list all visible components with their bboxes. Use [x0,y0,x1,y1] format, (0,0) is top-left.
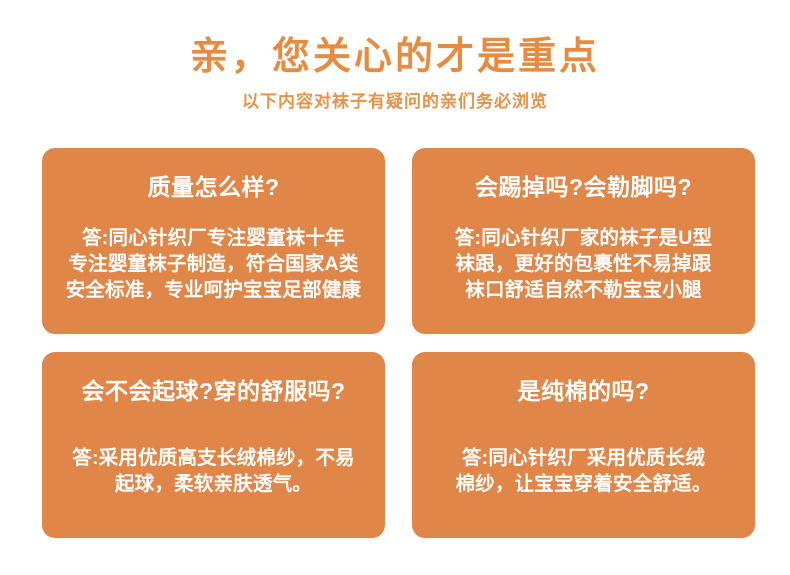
faq-question: 会不会起球?穿的舒服吗? [81,377,345,405]
faq-answer: 答:同心针织厂专注婴童袜十年 专注婴童袜子制造，符合国家A类 安全标准，专业呵护… [66,225,362,303]
page-title: 亲，您关心的才是重点 [0,34,790,80]
faq-card-pilling: 会不会起球?穿的舒服吗? 答:采用优质高支长绒棉纱，不易 起球，柔软亲肤透气。 [42,352,385,538]
faq-answer: 答:同心针织厂家的袜子是U型 袜跟，更好的包裹性不易掉跟 袜口舒适自然不勒宝宝小… [455,225,712,303]
faq-card-cotton: 是纯棉的吗? 答:同心针织厂采用优质长绒 棉纱，让宝宝穿着安全舒适。 [412,352,755,538]
faq-card-grid: 质量怎么样? 答:同心针织厂专注婴童袜十年 专注婴童袜子制造，符合国家A类 安全… [42,148,756,538]
faq-answer: 答:采用优质高支长绒棉纱，不易 起球，柔软亲肤透气。 [72,445,355,497]
faq-question: 是纯棉的吗? [517,377,649,405]
page-header: 亲，您关心的才是重点 以下内容对袜子有疑问的亲们务必浏览 [0,0,790,114]
faq-question: 会踢掉吗?会勒脚吗? [475,173,692,201]
faq-question: 质量怎么样? [147,173,279,201]
faq-card-fit: 会踢掉吗?会勒脚吗? 答:同心针织厂家的袜子是U型 袜跟，更好的包裹性不易掉跟 … [412,148,755,334]
faq-page: 亲，您关心的才是重点 以下内容对袜子有疑问的亲们务必浏览 质量怎么样? 答:同心… [0,0,790,575]
page-subtitle: 以下内容对袜子有疑问的亲们务必浏览 [0,90,790,114]
faq-card-quality: 质量怎么样? 答:同心针织厂专注婴童袜十年 专注婴童袜子制造，符合国家A类 安全… [42,148,385,334]
faq-answer: 答:同心针织厂采用优质长绒 棉纱，让宝宝穿着安全舒适。 [455,445,711,497]
